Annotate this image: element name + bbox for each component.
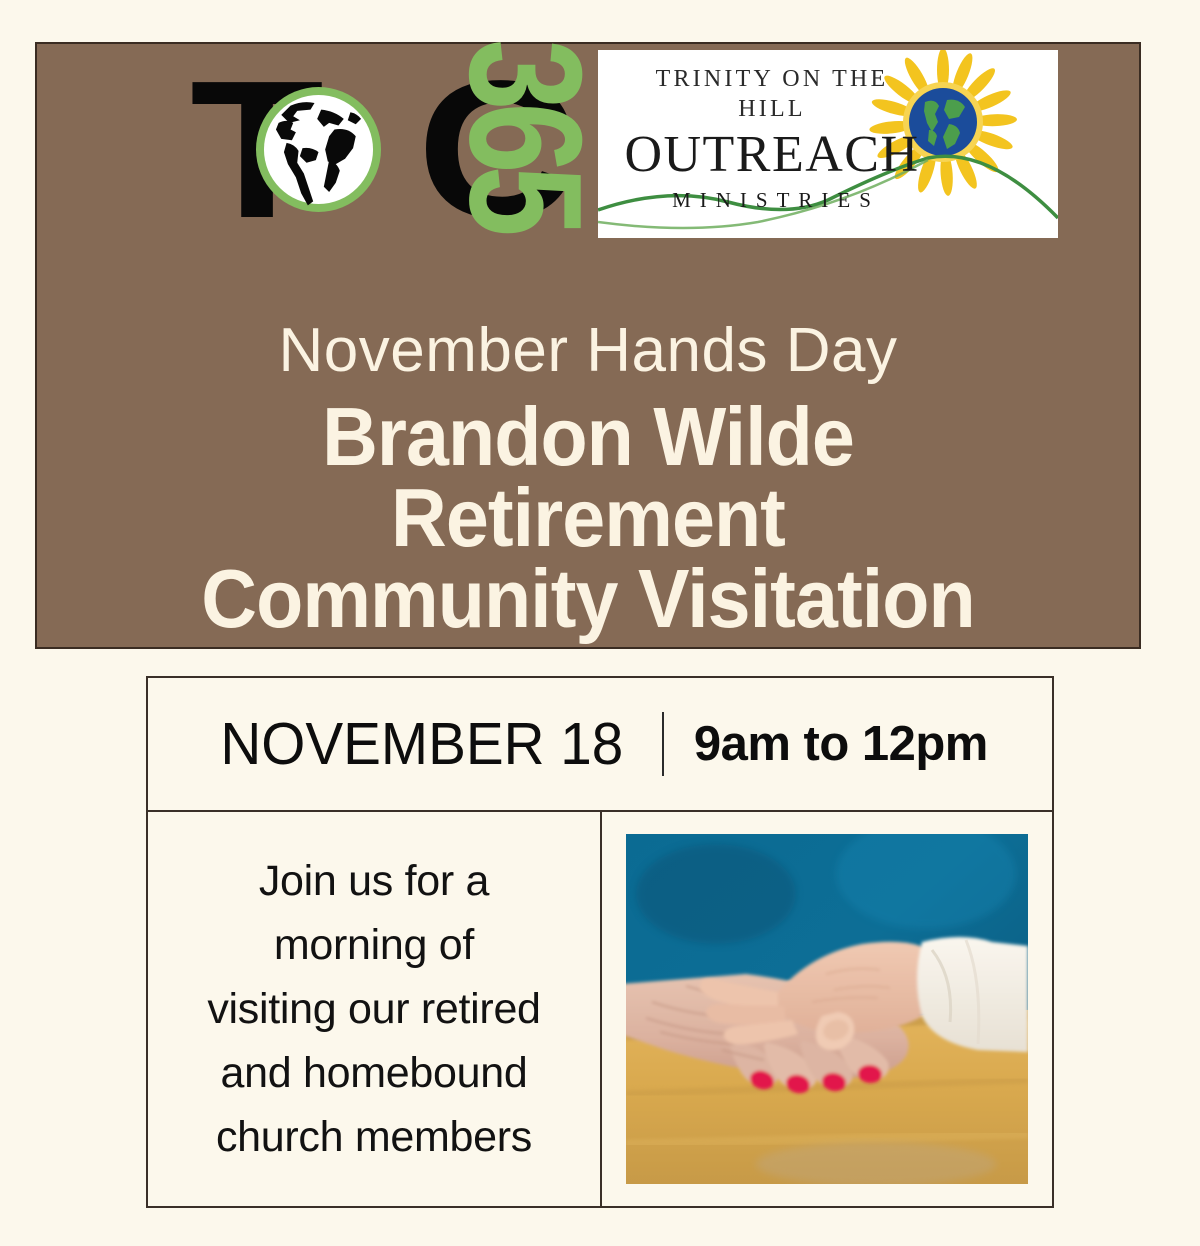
trinity-line-3: MINISTRIES: [622, 186, 922, 214]
description-text: Join us for a morning of visiting our re…: [197, 849, 550, 1169]
photo-cell: [602, 812, 1052, 1206]
trinity-logo-card: TRINITY ON THE HILL OUTREACH MINISTRIES: [598, 50, 1058, 238]
toc-365-number: 365: [430, 39, 620, 229]
description-line-5: church members: [207, 1105, 540, 1169]
toc-365-number-text: 365: [433, 39, 617, 229]
hero-panel: T C: [35, 42, 1141, 649]
logo-row: T C: [37, 44, 1139, 249]
hero-kicker: November Hands Day: [37, 316, 1139, 386]
description-line-1: Join us for a: [207, 849, 540, 913]
hero-title: Brandon Wilde Retirement Community Visit…: [37, 396, 1139, 639]
description-cell: Join us for a morning of visiting our re…: [148, 812, 602, 1206]
trinity-line-1: TRINITY ON THE HILL: [622, 64, 922, 124]
description-line-2: morning of: [207, 913, 540, 977]
event-flyer: T C: [0, 0, 1200, 1246]
holding-hands-photo: [626, 834, 1028, 1184]
trinity-line-2: OUTREACH: [622, 126, 922, 184]
globe-icon: [252, 83, 385, 216]
description-photo-row: Join us for a morning of visiting our re…: [148, 812, 1052, 1206]
description-line-4: and homebound: [207, 1041, 540, 1105]
event-date: NOVEMBER 18: [221, 714, 624, 774]
hero-title-line-3: Community Visitation: [76, 558, 1101, 639]
details-table: NOVEMBER 18 9am to 12pm Join us for a mo…: [146, 676, 1054, 1208]
hero-title-line-1: Brandon Wilde: [76, 396, 1101, 477]
toc365-logo: T C: [162, 47, 557, 237]
trinity-logo-text: TRINITY ON THE HILL OUTREACH MINISTRIES: [622, 64, 922, 214]
description-line-3: visiting our retired: [207, 977, 540, 1041]
date-time-row: NOVEMBER 18 9am to 12pm: [148, 678, 1052, 812]
event-time: 9am to 12pm: [694, 717, 988, 771]
date-time-divider: [662, 712, 664, 776]
hero-title-line-2: Retirement: [76, 477, 1101, 558]
